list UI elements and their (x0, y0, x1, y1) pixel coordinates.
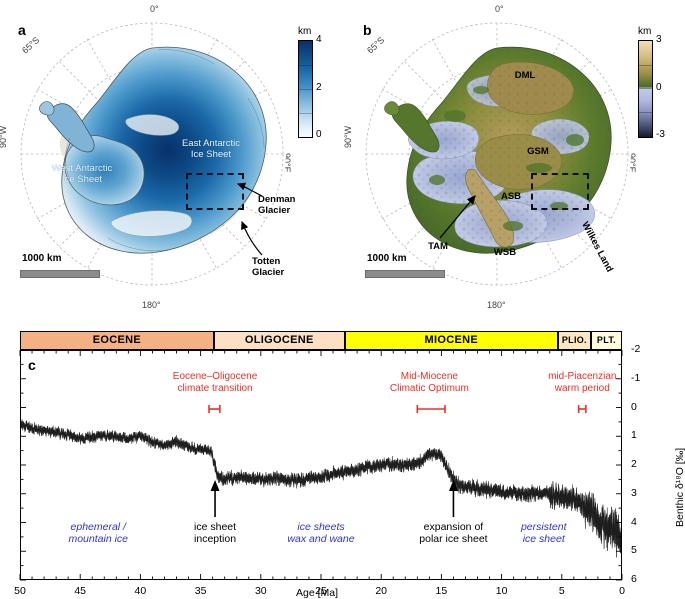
panel-c-x-axis-title: Age [Ma] (296, 587, 338, 599)
panel-b-inset-box (531, 173, 589, 210)
panel-a-scalebar-label: 1000 km (22, 253, 61, 264)
panel-b-scalebar-label: 1000 km (367, 253, 406, 264)
panel-a-inset-box (186, 173, 244, 210)
red-annotation-eocene-oligocene-climate-transition: Eocene–Oligocene climate transition (150, 371, 280, 394)
panel-b-scalebar (365, 270, 445, 278)
y-tick-label: -2 (631, 343, 640, 355)
black-annotation-ice-sheet-inception: ice sheet inception (155, 521, 275, 545)
y-tick-label: 0 (631, 401, 637, 413)
y-tick-label: 6 (631, 573, 637, 585)
panel-a-coord-bottom: 180° (142, 300, 161, 310)
y-tick-label: 4 (631, 516, 637, 528)
red-annotation-mid-piacenzian-warm-period: mid-Piacenzian warm period (517, 371, 647, 394)
blue-annotation-ephemeral-mountain-ice: ephemeral / mountain ice (38, 521, 158, 545)
panel-b-colorbar-tick-2: -3 (656, 129, 665, 140)
panel-b-colorbar (638, 40, 653, 138)
x-tick-label: 15 (426, 585, 456, 597)
y-tick-label: 2 (631, 458, 637, 470)
y-tick-label: 3 (631, 487, 637, 499)
x-tick-label: 50 (5, 585, 35, 597)
x-tick-label: 10 (487, 585, 517, 597)
black-annotation-expansion-of-polar-ice-sheet: expansion of polar ice sheet (393, 521, 513, 545)
panel-a-colorbar-tick-0: 4 (316, 34, 322, 45)
panel-a-coord-top: 0° (150, 4, 159, 14)
panel-c-y-axis-title: Benthic δ¹⁸O [‰] (674, 448, 685, 527)
panel-a-colorbar-tick-2: 0 (316, 129, 322, 140)
panel-a-graticule (18, 20, 286, 288)
panel-a-colorbar-title: km (298, 26, 311, 37)
x-tick-label: 40 (125, 585, 155, 597)
x-tick-label: 0 (607, 585, 637, 597)
panel-b-colorbar-title: km (638, 26, 651, 37)
epoch-oligocene: OLIGOCENE (214, 331, 345, 350)
panel-c: EOCENEOLIGOCENEMIOCENEPLIO.PLT. c 504540… (0, 325, 685, 593)
panel-a-coord-left: 90°W (0, 126, 8, 148)
epoch-eocene: EOCENE (20, 331, 214, 350)
panel-b: b 0° 180° 90°W 90°E 65°S (345, 8, 645, 320)
x-tick-label: 35 (186, 585, 216, 597)
figure-root: a 0° 180° 90°W 90°E 65°S (0, 0, 685, 593)
epoch-miocene: MIOCENE (345, 331, 558, 350)
epoch-plt: PLT. (591, 331, 622, 350)
x-tick-label: 45 (65, 585, 95, 597)
panel-b-colorbar-tick-0: 3 (656, 34, 662, 45)
x-tick-label: 20 (366, 585, 396, 597)
blue-annotation-ice-sheets-wax-and-wane: ice sheets wax and wane (261, 521, 381, 545)
panel-b-coord-left: 90°W (343, 126, 353, 148)
y-tick-label: 1 (631, 429, 637, 441)
panel-b-coord-top: 0° (495, 4, 504, 14)
panel-a: a 0° 180° 90°W 90°E 65°S (0, 8, 300, 320)
panel-b-map (363, 20, 631, 288)
panel-a-map (18, 20, 286, 288)
panel-a-scalebar (20, 270, 100, 278)
panel-c-letter: c (28, 357, 36, 373)
panel-b-coord-bottom: 180° (487, 300, 506, 310)
panel-b-graticule (363, 20, 631, 288)
x-tick-label: 5 (547, 585, 577, 597)
panel-b-colorbar-tick-1: 0 (656, 82, 662, 93)
epoch-plio: PLIO. (558, 331, 591, 350)
x-tick-label: 30 (246, 585, 276, 597)
panel-a-colorbar-tick-1: 2 (316, 82, 322, 93)
y-tick-label: 5 (631, 544, 637, 556)
red-annotation-mid-miocene-climatic-optimum: Mid-Miocene Climatic Optimum (364, 371, 494, 394)
panel-a-colorbar (298, 40, 313, 138)
